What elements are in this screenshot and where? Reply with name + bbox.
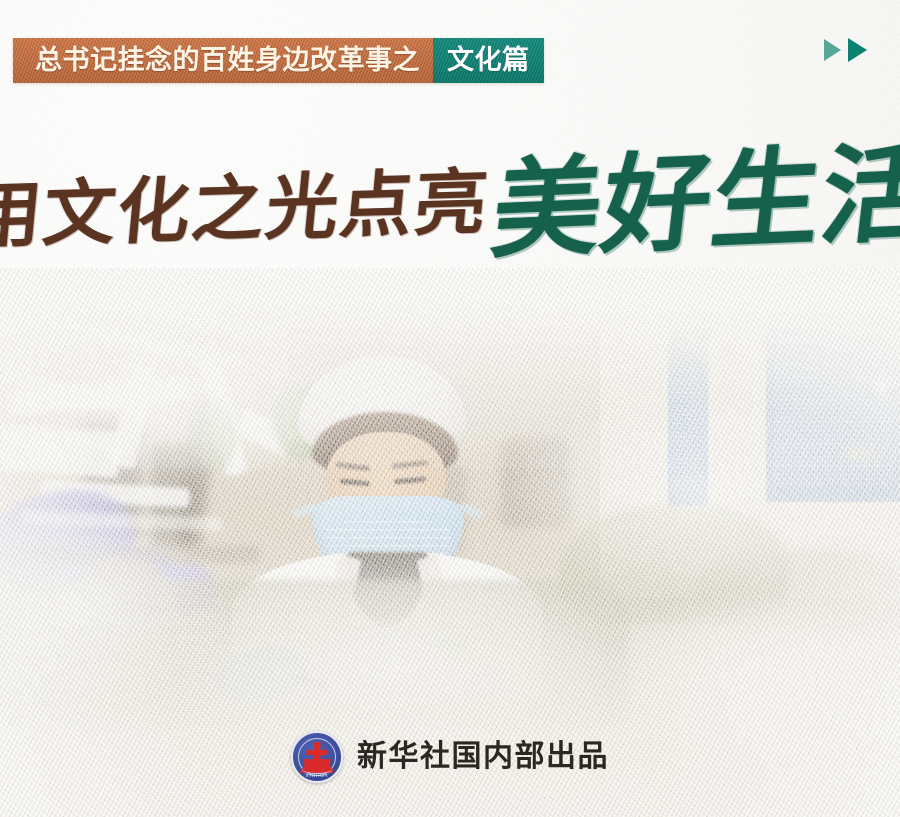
banner-main-segment: 总书记挂念的百姓身边改革事之 — [13, 38, 433, 83]
arrow-group — [824, 38, 867, 62]
series-banner: 总书记挂念的百姓身边改革事之 文化篇 — [13, 38, 544, 83]
banner-main-label: 总书记挂念的百姓身边改革事之 — [35, 47, 420, 74]
arrow-right-light-icon — [824, 39, 841, 61]
footer-credit-label: 新华社国内部出品 — [357, 742, 609, 772]
arrow-right-dark-icon — [848, 38, 867, 62]
footer-credit: XINHUA 新华社国内部出品 — [0, 731, 900, 783]
banner-sub-segment: 文化篇 — [433, 38, 544, 83]
logo-wordmark: XINHUA — [293, 773, 341, 778]
banner-sub-label: 文化篇 — [447, 47, 530, 74]
poster-canvas: 总书记挂念的百姓身边改革事之 文化篇 用文化之光点亮 美好生活 XINHUA 新… — [0, 0, 900, 817]
xinhua-logo-icon: XINHUA — [291, 731, 343, 783]
